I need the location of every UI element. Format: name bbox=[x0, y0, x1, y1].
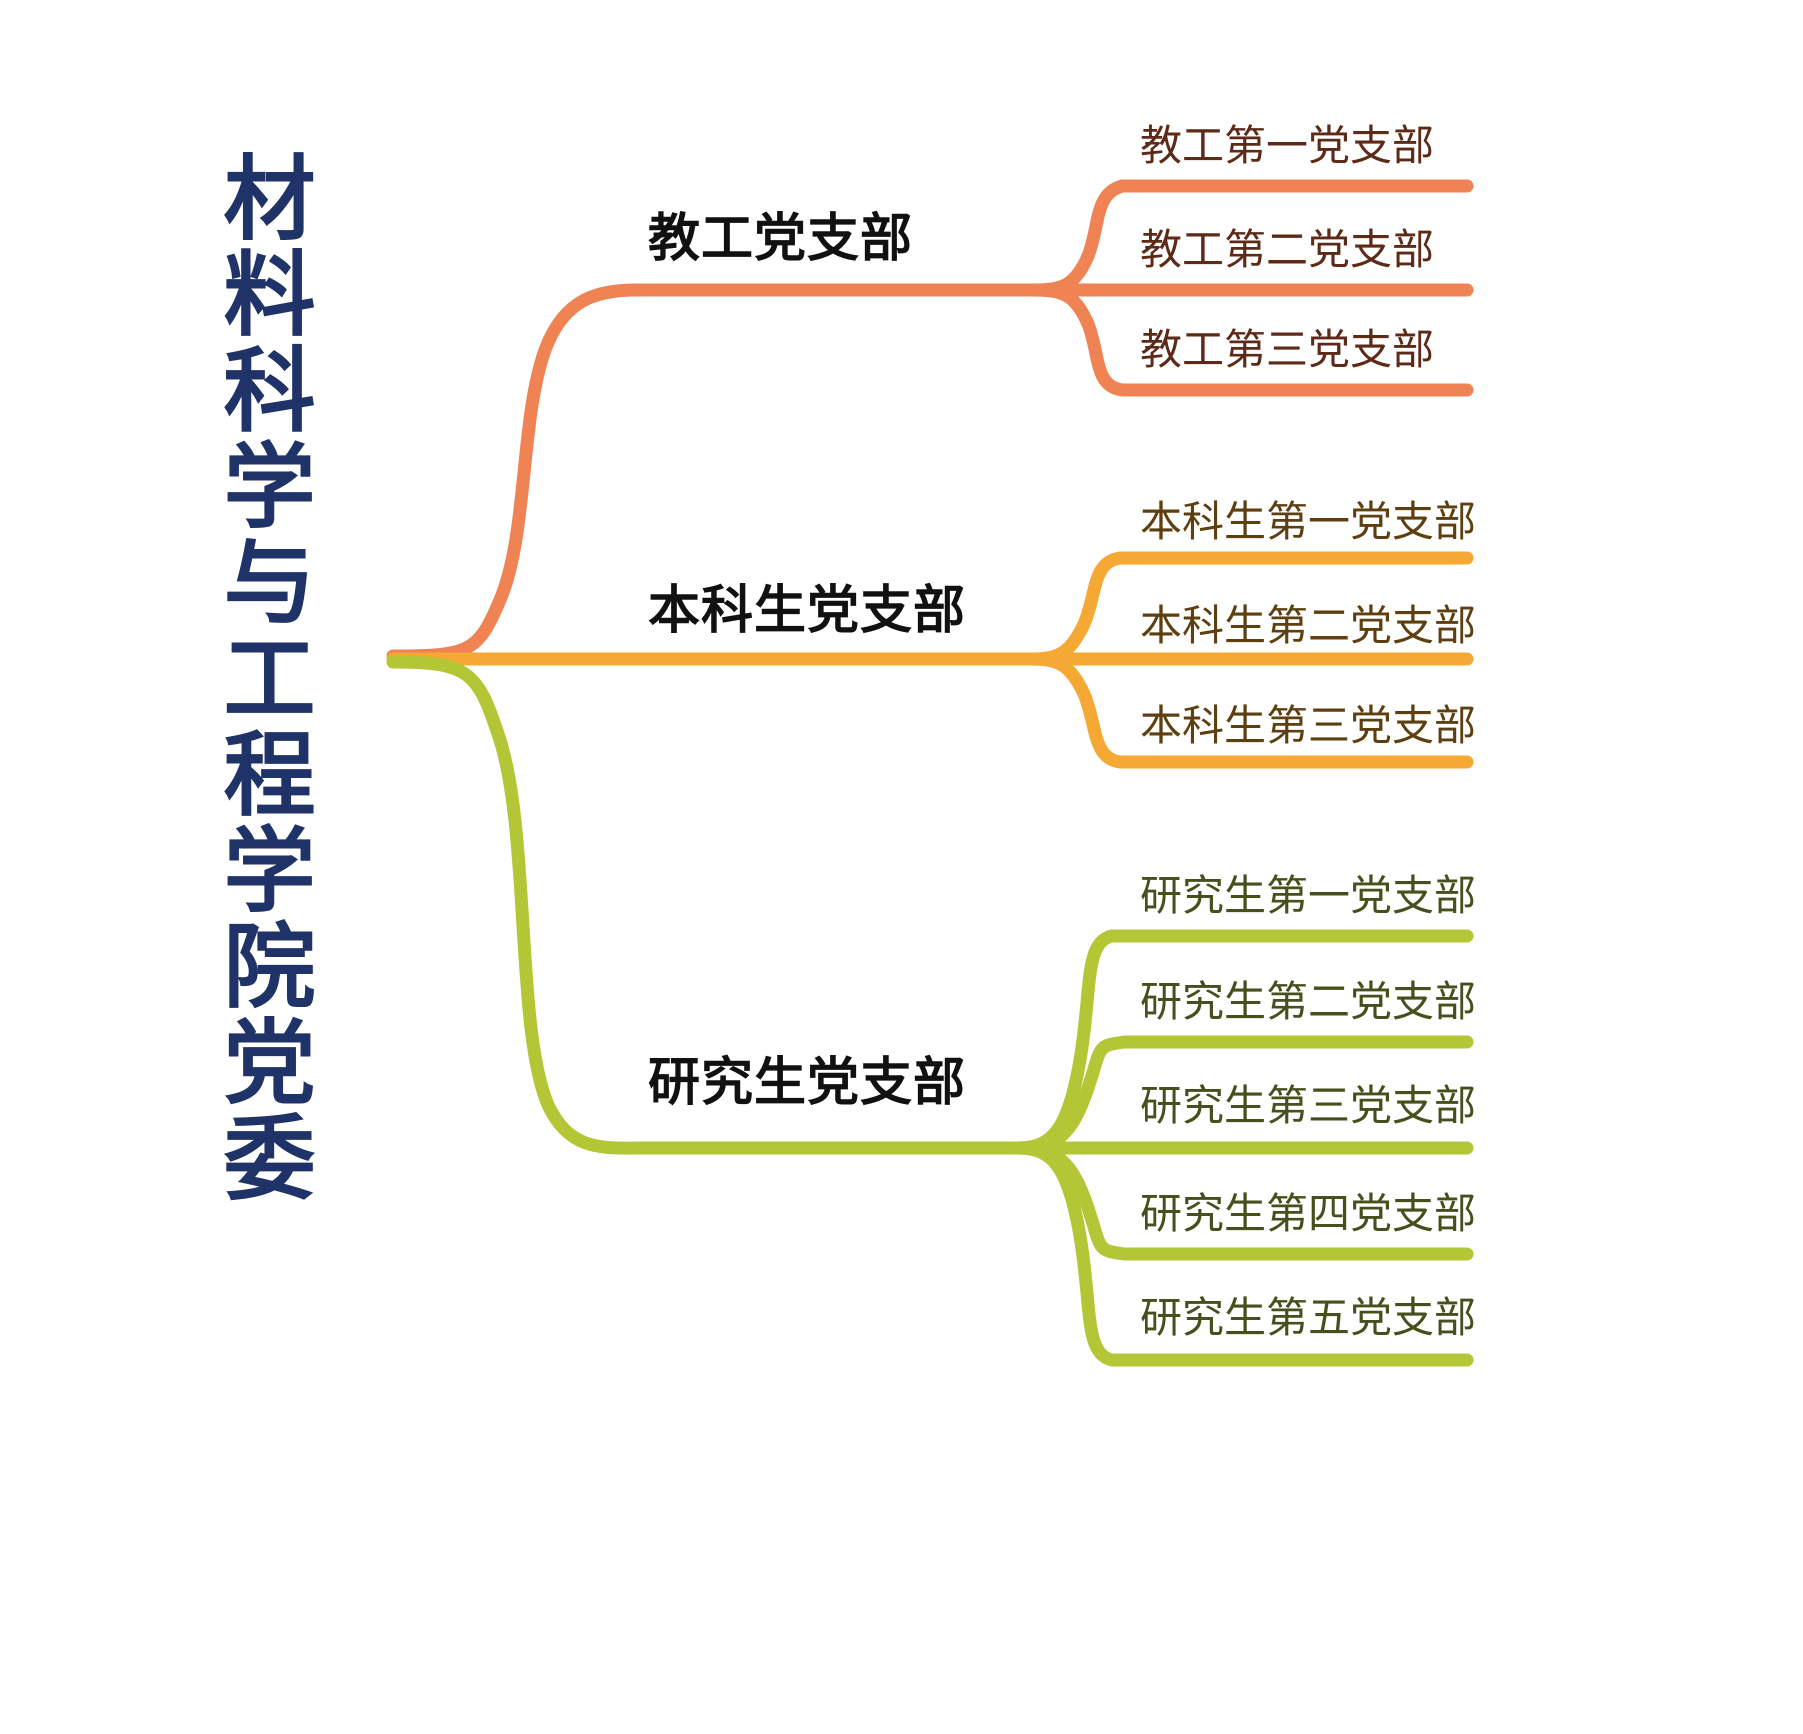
branch-label-teaching-staff[interactable]: 教工党支部 bbox=[648, 196, 913, 271]
leaf-label-undergrad-branch-2[interactable]: 本科生第二党支部 bbox=[1140, 592, 1476, 653]
leaf-label-teaching-branch-1[interactable]: 教工第一党支部 bbox=[1140, 112, 1434, 173]
diagram-canvas: 材料科学与工程学院党委 教工党支部 本科生党支部 研究生党支部 教工第一党支部 … bbox=[0, 0, 1803, 1734]
branch-label-undergraduate[interactable]: 本科生党支部 bbox=[648, 568, 966, 643]
leaf-label-undergrad-branch-1[interactable]: 本科生第一党支部 bbox=[1140, 488, 1476, 549]
leaf-label-undergrad-branch-3[interactable]: 本科生第三党支部 bbox=[1140, 692, 1476, 753]
leaf-label-grad-branch-3[interactable]: 研究生第三党支部 bbox=[1140, 1072, 1476, 1133]
branch-label-graduate[interactable]: 研究生党支部 bbox=[648, 1040, 966, 1115]
leaf-label-teaching-branch-2[interactable]: 教工第二党支部 bbox=[1140, 216, 1434, 277]
leaf-label-grad-branch-5[interactable]: 研究生第五党支部 bbox=[1140, 1284, 1476, 1345]
leaf-label-grad-branch-1[interactable]: 研究生第一党支部 bbox=[1140, 862, 1476, 923]
leaf-label-teaching-branch-3[interactable]: 教工第三党支部 bbox=[1140, 316, 1434, 377]
root-node-label: 材料科学与工程学院党委 bbox=[178, 150, 308, 1206]
leaf-label-grad-branch-2[interactable]: 研究生第二党支部 bbox=[1140, 968, 1476, 1029]
leaf-label-grad-branch-4[interactable]: 研究生第四党支部 bbox=[1140, 1180, 1476, 1241]
